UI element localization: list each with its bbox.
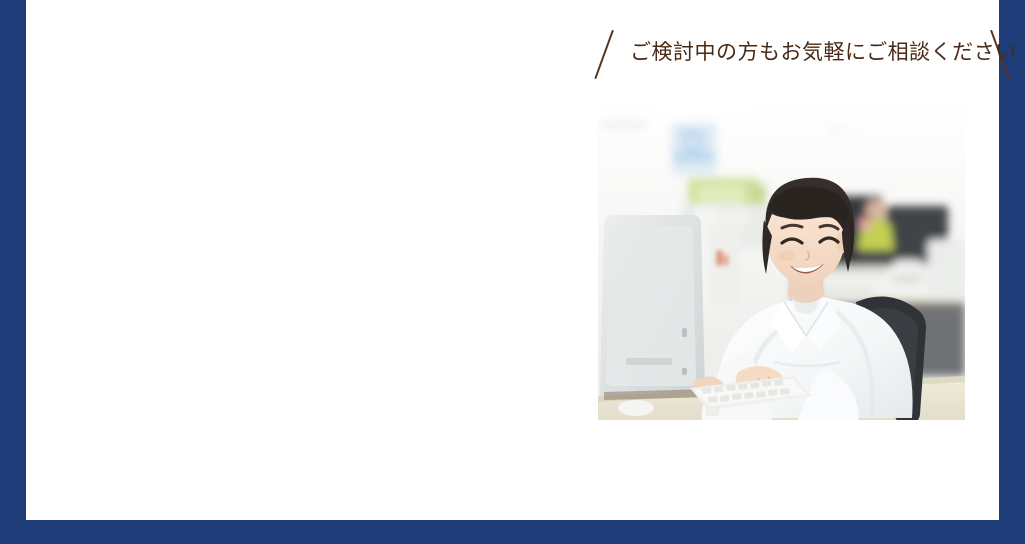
content-panel: ご検討中の方もお気軽にご相談ください xyxy=(26,0,999,520)
headline-text: ご検討中の方もお気軽にご相談ください xyxy=(630,35,982,69)
page-root: ご検討中の方もお気軽にご相談ください xyxy=(0,0,1025,544)
left-slash-icon xyxy=(594,30,614,80)
office-photo-graphic xyxy=(598,100,965,420)
office-photo xyxy=(598,100,965,420)
headline-banner: ご検討中の方もお気軽にご相談ください xyxy=(584,30,1024,86)
